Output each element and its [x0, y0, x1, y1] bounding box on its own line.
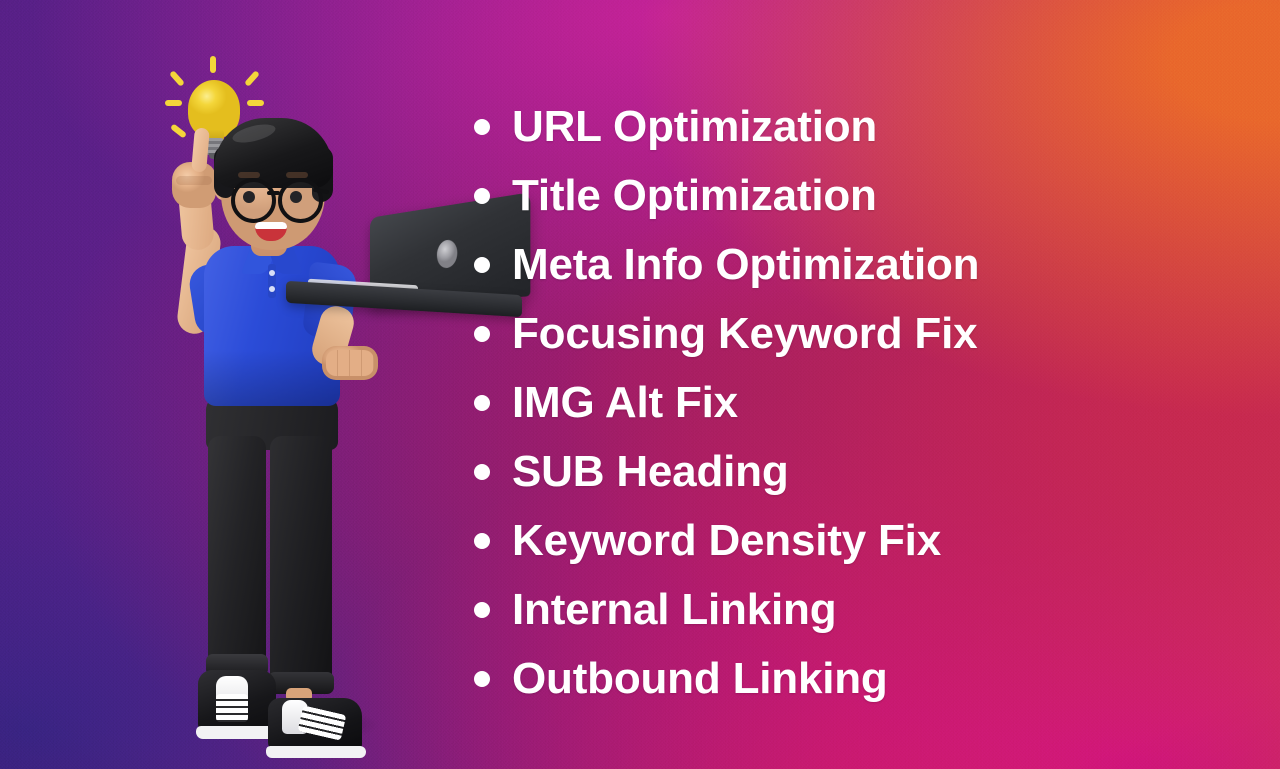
lightbulb-ray-icon: [210, 56, 216, 73]
left-sneaker-laces: [216, 694, 248, 722]
lightbulb-ray-icon: [244, 70, 260, 87]
shirt-button: [269, 270, 275, 276]
right-leg: [270, 436, 332, 692]
list-item-label: Keyword Density Fix: [512, 519, 941, 563]
bullet-dot-icon: [474, 395, 490, 411]
bullet-dot-icon: [474, 533, 490, 549]
graphic-canvas: URL OptimizationTitle OptimizationMeta I…: [0, 0, 1280, 769]
lightbulb-ray-icon: [247, 100, 264, 106]
bullet-dot-icon: [474, 188, 490, 204]
right-sneaker-sole: [266, 746, 366, 758]
bullet-dot-icon: [474, 257, 490, 273]
teeth: [255, 222, 287, 229]
bullet-dot-icon: [474, 119, 490, 135]
list-item-label: Internal Linking: [512, 588, 836, 632]
bullet-dot-icon: [474, 602, 490, 618]
list-item: SUB Heading: [462, 437, 1162, 506]
list-item: Internal Linking: [462, 575, 1162, 644]
services-list: URL OptimizationTitle OptimizationMeta I…: [462, 92, 1162, 713]
left-leg: [208, 436, 266, 676]
glasses-left-lens: [231, 178, 276, 223]
glasses-bridge: [267, 191, 280, 195]
right-fingers: [326, 350, 374, 376]
list-item: URL Optimization: [462, 92, 1162, 161]
list-item-label: IMG Alt Fix: [512, 381, 738, 425]
glasses-right-lens: [278, 178, 323, 223]
left-eyebrow: [238, 172, 260, 178]
bullet-dot-icon: [474, 464, 490, 480]
character-illustration: [110, 50, 510, 750]
list-item-label: Title Optimization: [512, 174, 877, 218]
list-item-label: SUB Heading: [512, 450, 789, 494]
list-item: Meta Info Optimization: [462, 230, 1162, 299]
list-item-label: Outbound Linking: [512, 657, 888, 701]
list-item-label: URL Optimization: [512, 105, 877, 149]
list-item-label: Meta Info Optimization: [512, 243, 979, 287]
hand-knuckles: [176, 176, 212, 185]
lightbulb-ray-icon: [169, 70, 185, 87]
list-item: Outbound Linking: [462, 644, 1162, 713]
right-eyebrow: [286, 172, 308, 178]
list-item: Title Optimization: [462, 161, 1162, 230]
list-item: Focusing Keyword Fix: [462, 299, 1162, 368]
list-item: Keyword Density Fix: [462, 506, 1162, 575]
lightbulb-ray-icon: [165, 100, 182, 106]
list-item-label: Focusing Keyword Fix: [512, 312, 977, 356]
list-item: IMG Alt Fix: [462, 368, 1162, 437]
bullet-dot-icon: [474, 326, 490, 342]
shirt-button: [269, 286, 275, 292]
bullet-dot-icon: [474, 671, 490, 687]
lightbulb-ray-icon: [170, 123, 187, 138]
